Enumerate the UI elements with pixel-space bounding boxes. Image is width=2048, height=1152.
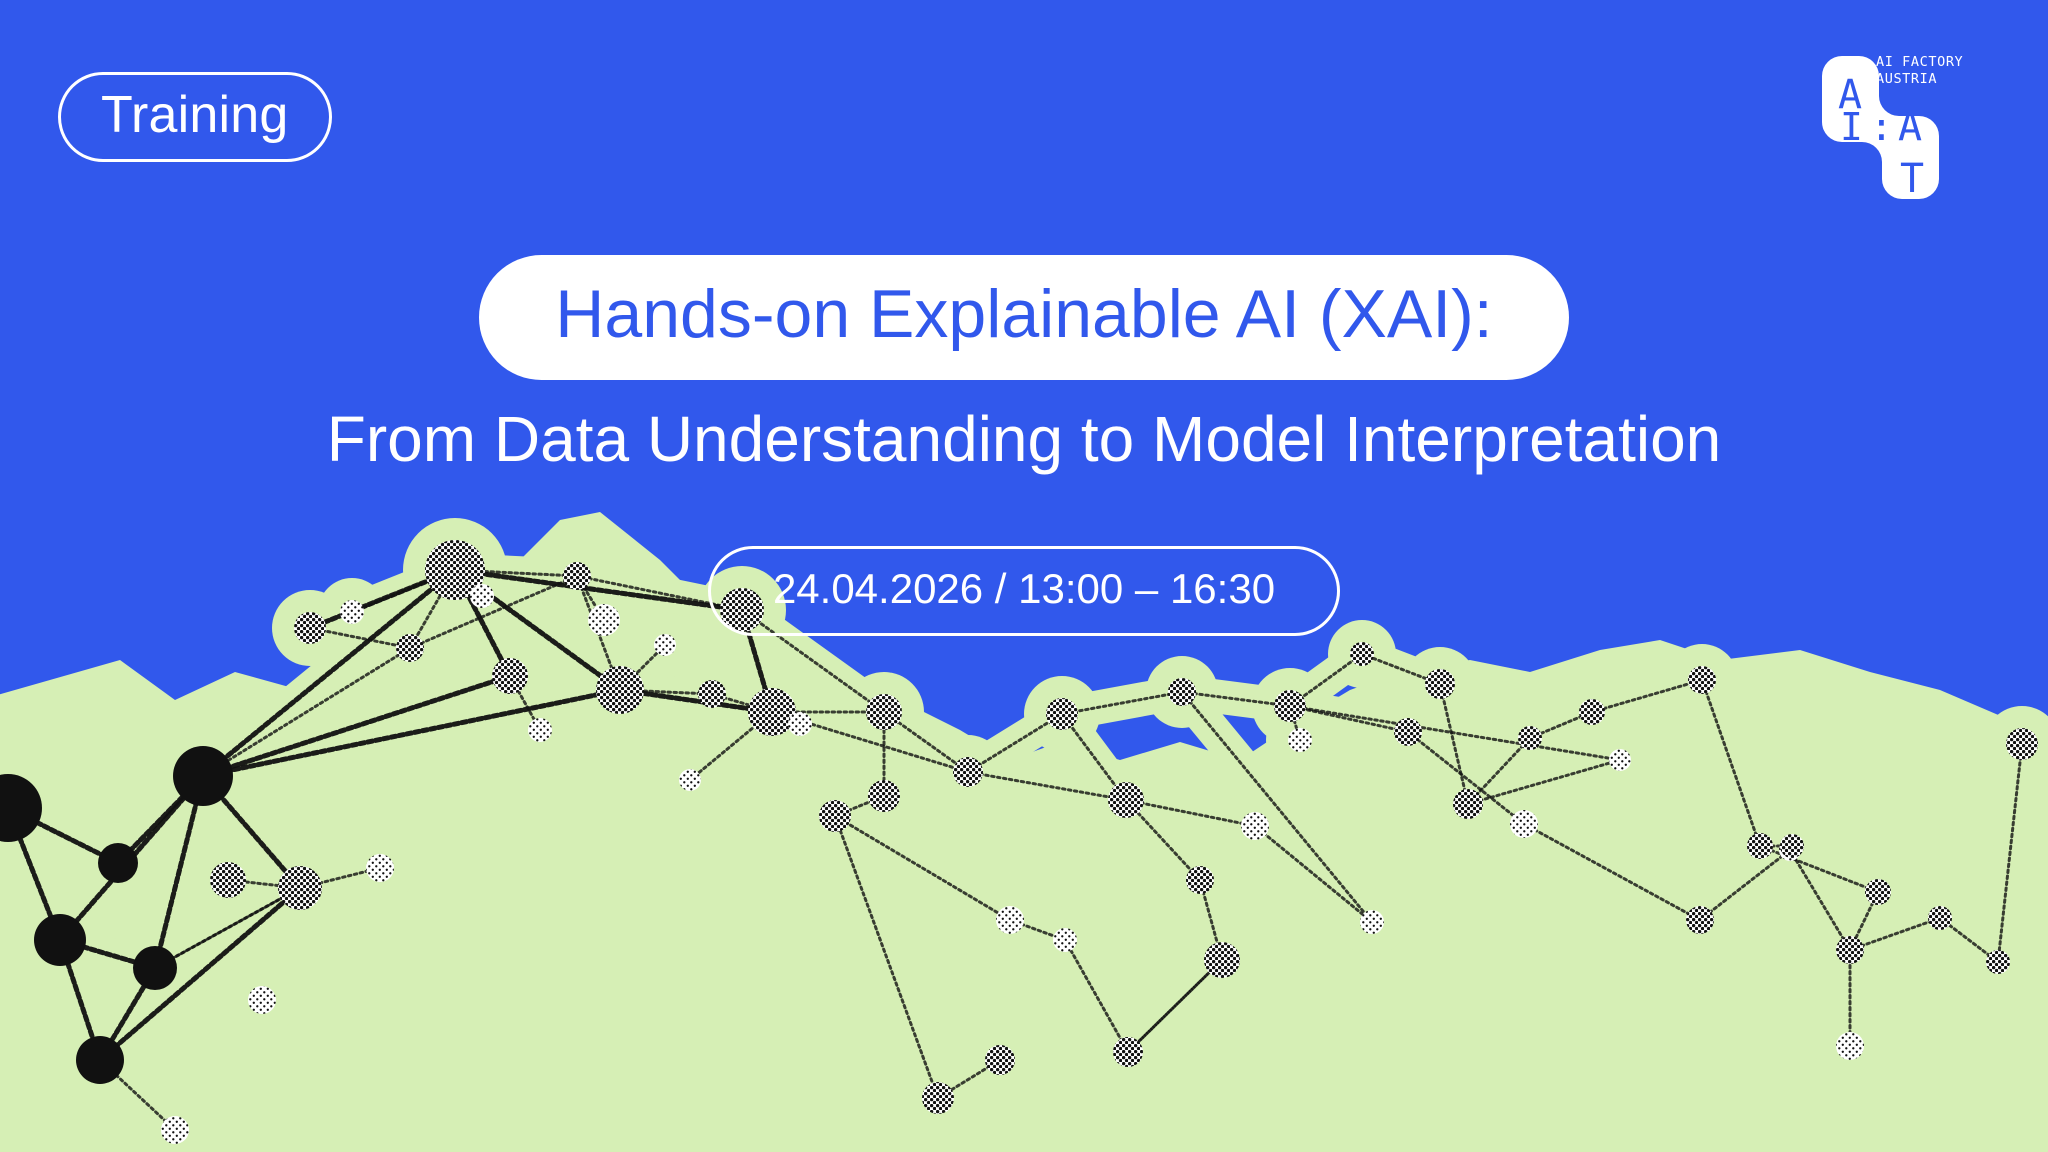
page-title: Hands-on Explainable AI (XAI): — [555, 279, 1492, 350]
poster-canvas: Training A I : A T AI FACTORYAUSTRIA Han… — [0, 0, 2048, 1152]
title-pill: Hands-on Explainable AI (XAI): — [479, 255, 1568, 380]
graph-edges — [8, 570, 2022, 1130]
center-content: Hands-on Explainable AI (XAI): From Data… — [0, 0, 2048, 636]
date-time-badge[interactable]: 24.04.2026 / 13:00 – 16:30 — [708, 546, 1340, 636]
page-subtitle: From Data Understanding to Model Interpr… — [0, 404, 2048, 476]
date-time-label: 24.04.2026 / 13:00 – 16:30 — [773, 567, 1275, 611]
